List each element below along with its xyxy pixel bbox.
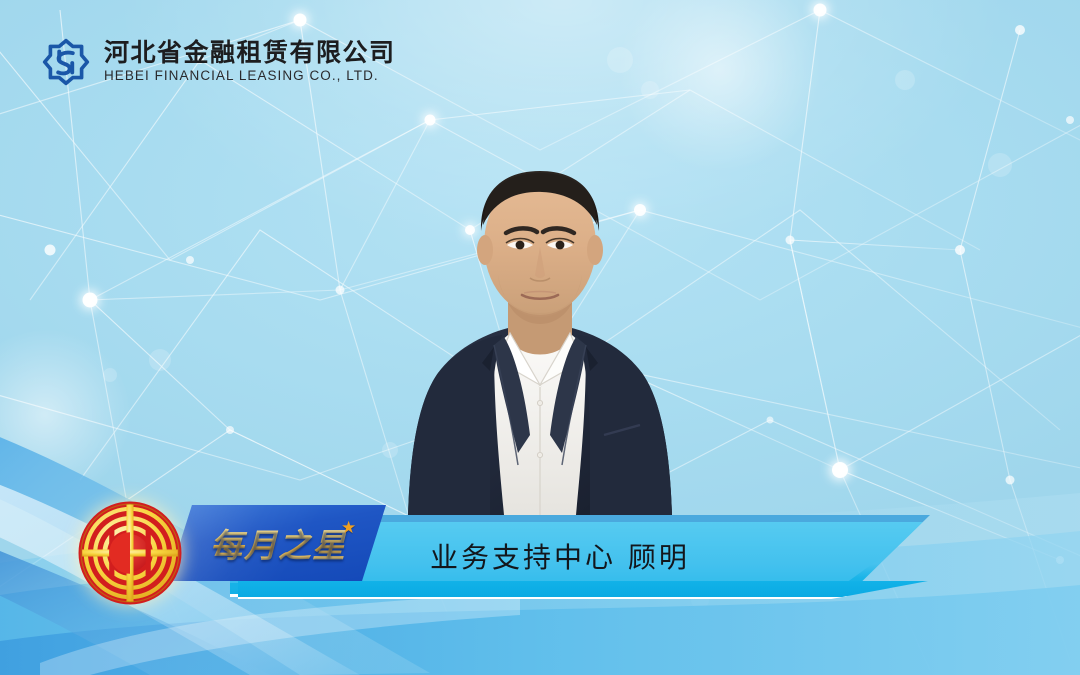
program-title-text: 每月之星: [210, 519, 346, 567]
hebei-financial-leasing-logo-icon: [40, 36, 92, 88]
brand-name-en: HEBEI FINANCIAL LEASING CO., LTD.: [104, 68, 396, 85]
lower-third-banner: 每月之星 ★ 业务支持中心 顾明: [0, 499, 1080, 609]
brand-name-cn: 河北省金融租赁有限公司: [104, 39, 396, 66]
acftu-union-emblem-icon: [78, 501, 182, 605]
brand-header: 河北省金融租赁有限公司 HEBEI FINANCIAL LEASING CO.,…: [40, 36, 396, 88]
video-frame: 河北省金融租赁有限公司 HEBEI FINANCIAL LEASING CO.,…: [0, 0, 1080, 675]
star-icon: ★: [341, 519, 356, 536]
caption: 业务支持中心 顾明: [430, 526, 690, 586]
caption-text: 业务支持中心 顾明: [430, 536, 690, 576]
brand-text: 河北省金融租赁有限公司 HEBEI FINANCIAL LEASING CO.,…: [104, 39, 396, 85]
portrait-subject: [390, 135, 690, 515]
